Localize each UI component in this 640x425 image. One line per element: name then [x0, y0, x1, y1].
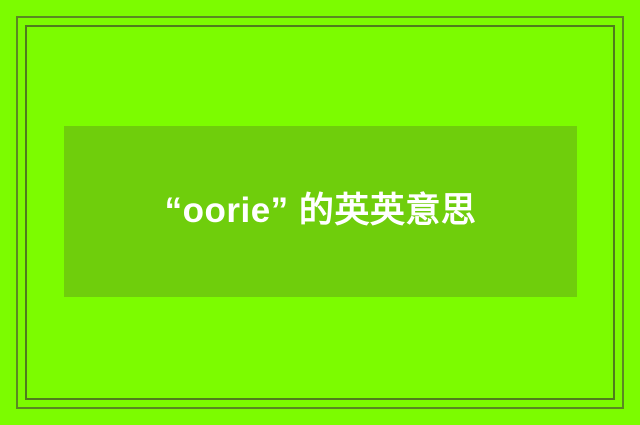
title-banner: “oorie” 的英英意思 — [64, 126, 577, 297]
page-canvas: “oorie” 的英英意思 — [0, 0, 640, 425]
page-title: “oorie” 的英英意思 — [165, 184, 477, 238]
